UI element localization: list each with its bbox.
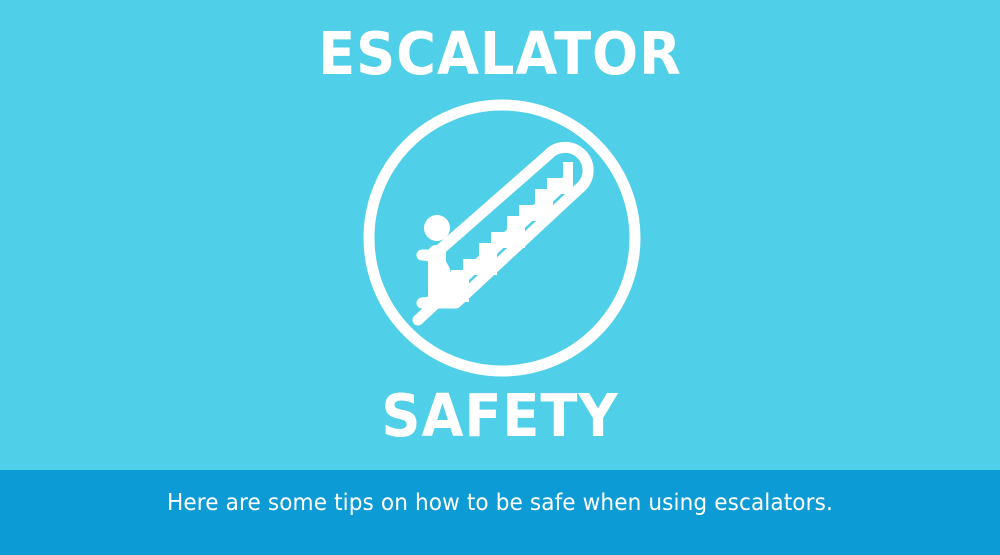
escalator-in-circle-icon <box>352 90 652 386</box>
escalator-graphic-icon <box>418 147 588 320</box>
caption-text: Here are some tips on how to be safe whe… <box>30 489 970 517</box>
page-subtitle-word: SAFETY <box>40 384 960 448</box>
escalator-safety-slide: ESCALATOR <box>0 0 1000 555</box>
page-title: ESCALATOR <box>40 22 960 86</box>
escalator-icon-svg <box>352 90 652 386</box>
caption-bar: Here are some tips on how to be safe whe… <box>0 470 1000 555</box>
